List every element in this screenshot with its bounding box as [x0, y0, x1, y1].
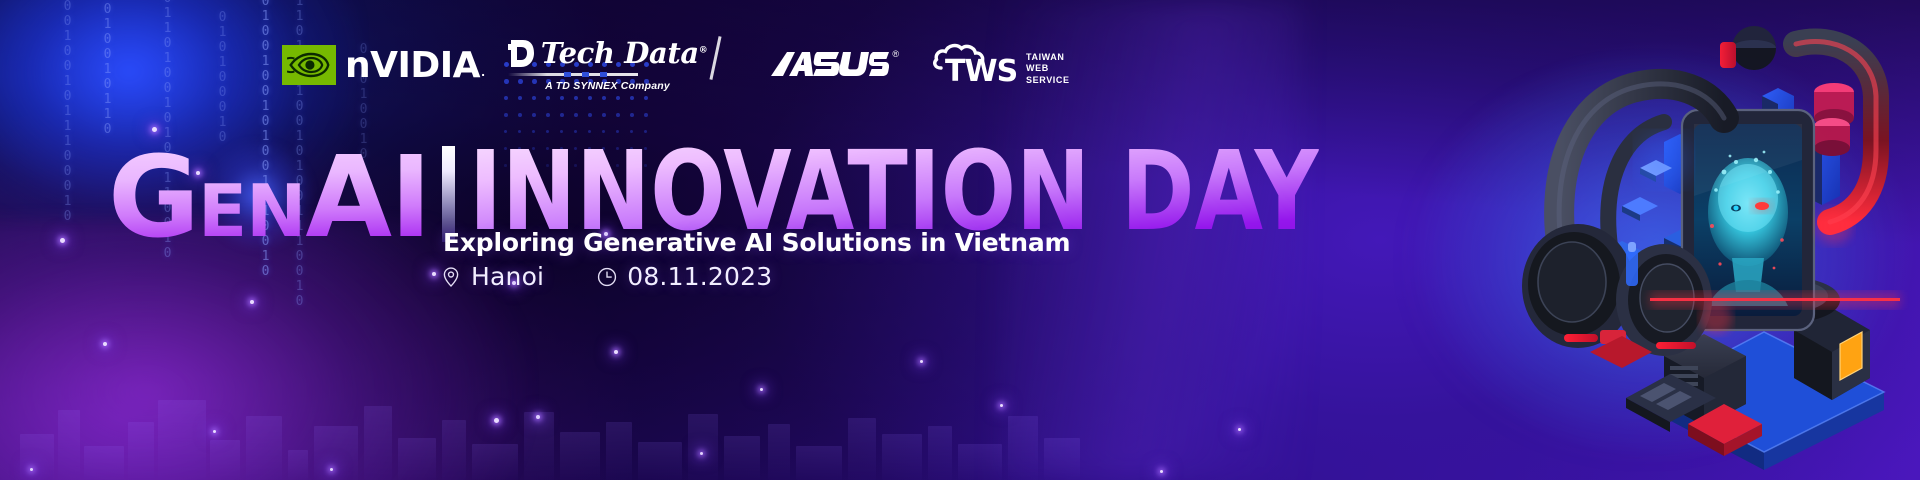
skyline-building [20, 434, 54, 480]
skyline-building [246, 416, 282, 480]
nvidia-trademark: . [481, 66, 485, 79]
nvidia-eye-icon [282, 45, 336, 85]
tws-sub-lines: TAIWAN WEB SERVICE [1026, 52, 1070, 87]
skyline-building [84, 446, 124, 480]
location-pin-icon [440, 266, 462, 288]
skyline-building [768, 424, 790, 480]
skyline-building [472, 444, 518, 480]
clock-icon [596, 266, 618, 288]
event-meta: Hanoi 08.11.2023 [440, 262, 772, 291]
sparkle [1160, 470, 1163, 473]
logo-tws[interactable]: TWS TAIWAN WEB SERVICE [933, 42, 1070, 88]
skyline-building [158, 400, 206, 480]
binary-column: 00010010110 [100, 0, 115, 137]
skyline-building [1044, 438, 1080, 480]
tws-wordmark: TWS [945, 57, 1017, 87]
sparkle [1238, 428, 1241, 431]
asus-wordmark-icon [769, 46, 889, 84]
skyline-building [210, 440, 240, 480]
headline-brand: GENAI [108, 150, 430, 246]
nvidia-wordmark: nVIDIA. [345, 48, 484, 84]
asus-registered: ® [892, 49, 899, 59]
tech-data-wordmark: Tech Data® [541, 39, 708, 68]
sparkle [60, 238, 65, 243]
logo-asus[interactable]: ® [769, 46, 899, 84]
sparkle [432, 272, 436, 276]
skyline-building [848, 418, 876, 480]
skyline-building [364, 406, 392, 480]
tws-sub-line-2: WEB [1026, 63, 1070, 75]
headline-brand-en: EN [198, 169, 305, 253]
skyline-building [958, 444, 1002, 480]
tech-data-underline [508, 73, 638, 76]
tws-sub-line-1: TAIWAN [1026, 52, 1070, 64]
skyline-building [560, 432, 600, 480]
genai-innovation-day-banner: 00010010110 110100100101001110010 100100… [0, 0, 1920, 480]
skyline-building [442, 420, 466, 480]
skyline-building [314, 426, 358, 480]
techdata-d-icon [508, 38, 534, 68]
meta-date: 08.11.2023 [596, 262, 772, 291]
sparkle [103, 342, 107, 346]
sparkle [250, 300, 254, 304]
headline-brand-g: G [108, 133, 198, 263]
subtitle: Exploring Generative AI Solutions in Vie… [443, 228, 1070, 257]
skyline-building [638, 442, 682, 480]
headline-brand-ai: AI [305, 133, 429, 263]
binary-column: 010100010 [215, 10, 230, 145]
meta-location-label: Hanoi [471, 262, 544, 291]
tech-data-wordmark-text: Tech Data [541, 36, 699, 70]
logo-nvidia[interactable]: nVIDIA. [282, 45, 484, 85]
tech-data-registered: ® [699, 45, 708, 55]
tech-data-slash [710, 36, 722, 80]
tws-sub-line-3: SERVICE [1026, 75, 1070, 87]
city-skyline-silhouette [0, 360, 1100, 480]
skyline-building [288, 450, 308, 480]
nvidia-wordmark-text: nVIDIA [345, 45, 480, 86]
tech-data-tagline: A TD SYNNEX Company [508, 80, 708, 92]
skyline-building [1008, 416, 1038, 480]
skyline-building [796, 446, 842, 480]
logo-tech-data[interactable]: Tech Data® A TD SYNNEX Company [508, 38, 708, 92]
skyline-building [58, 410, 80, 480]
meta-location: Hanoi [440, 262, 544, 291]
skyline-building [724, 436, 760, 480]
skyline-building [882, 434, 922, 480]
skyline-building [524, 412, 554, 480]
binary-column: 1001001011100010 [60, 0, 75, 224]
skyline-building [606, 422, 632, 480]
ai-city-illustration [1364, 0, 1920, 480]
skyline-building [688, 414, 718, 480]
partner-logo-strip: nVIDIA. Tech Data® A TD SYNNEX Company [282, 36, 1070, 94]
meta-date-label: 08.11.2023 [627, 262, 772, 291]
sparkle [614, 350, 618, 354]
skyline-building [128, 422, 154, 480]
skyline-building [398, 438, 436, 480]
skyline-building [928, 426, 952, 480]
